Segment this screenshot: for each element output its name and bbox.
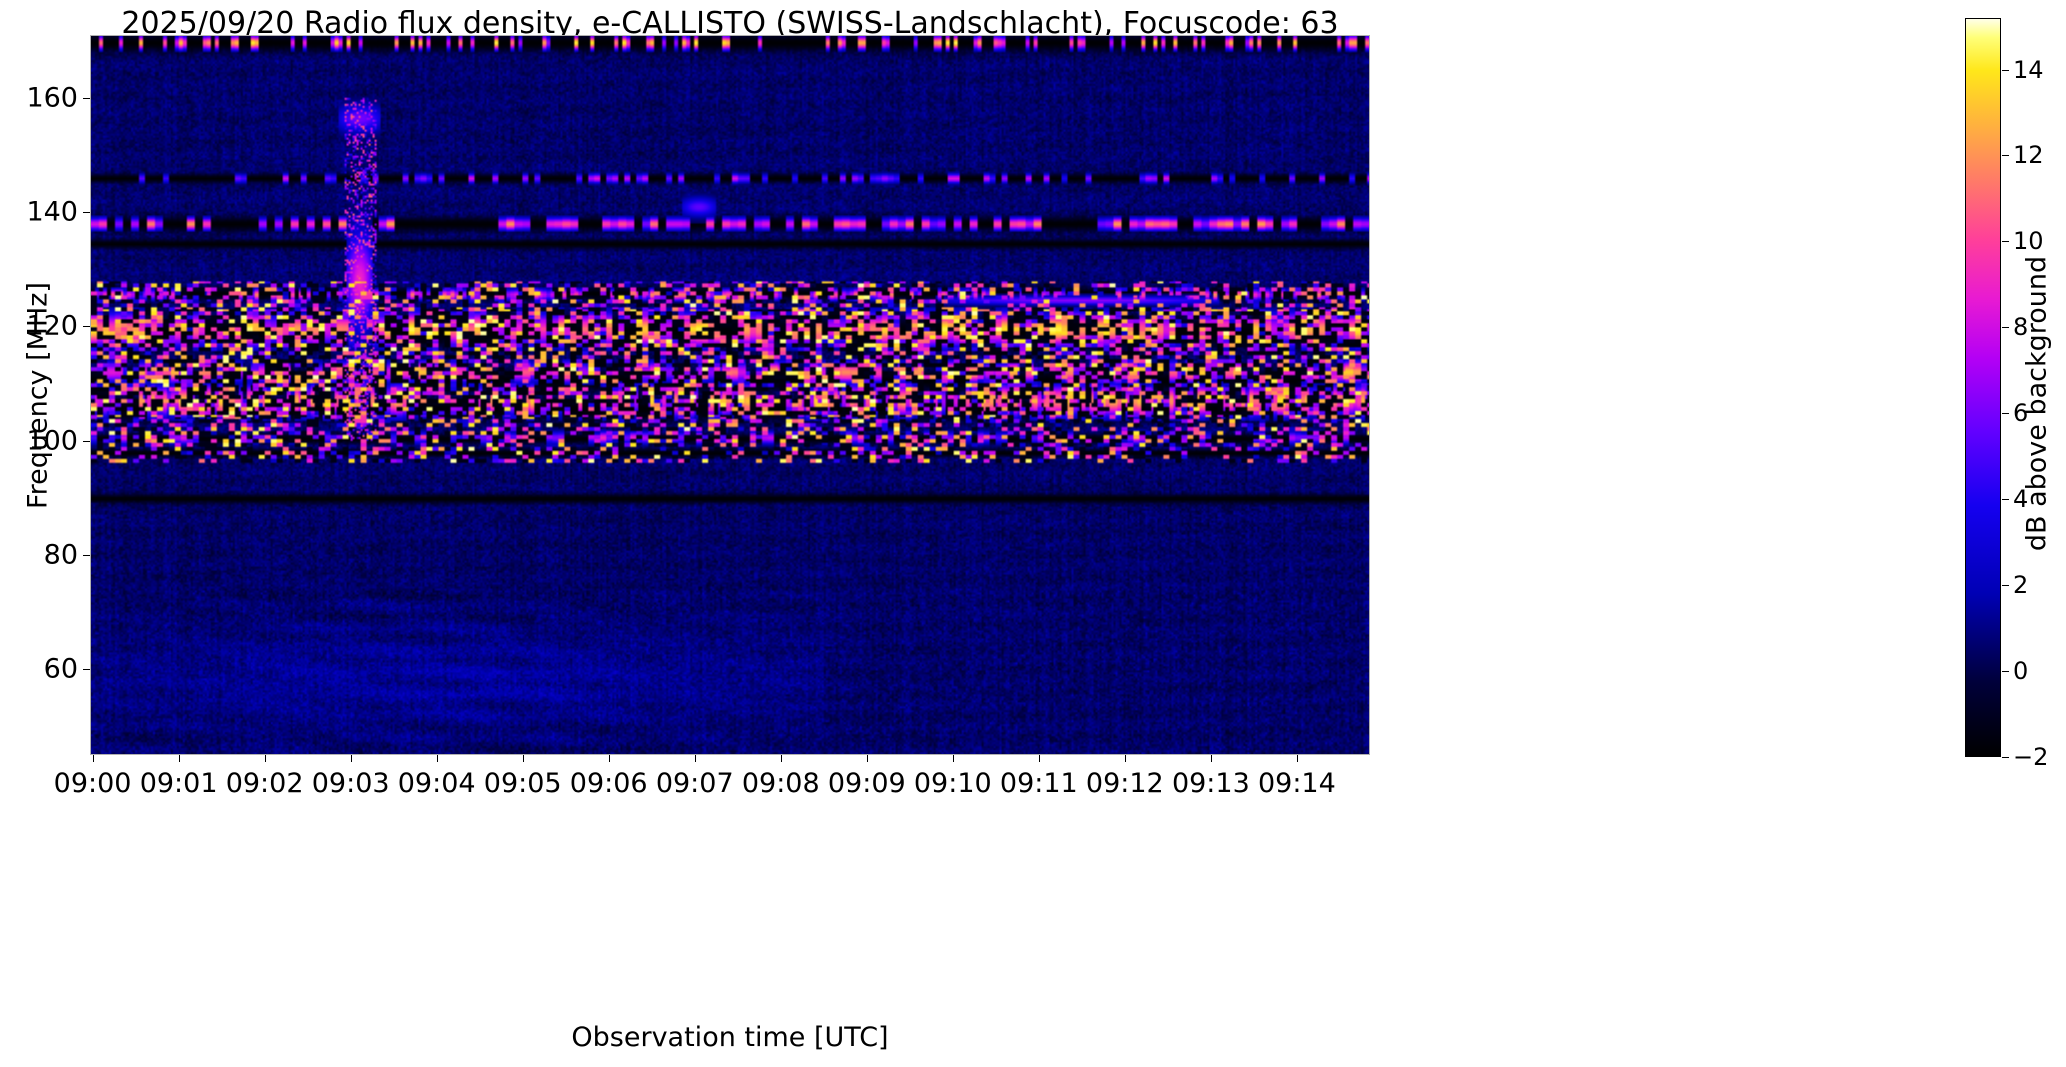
x-tick-mark <box>695 755 696 762</box>
x-tick-mark <box>93 755 94 762</box>
x-tick-label: 09:02 <box>226 768 304 799</box>
x-tick-mark <box>781 755 782 762</box>
x-tick-label: 09:00 <box>54 768 132 799</box>
x-tick-mark <box>1211 755 1212 762</box>
x-tick-label: 09:13 <box>1172 768 1250 799</box>
x-tick-mark <box>523 755 524 762</box>
x-axis-label: Observation time [UTC] <box>90 1022 1370 1053</box>
colorbar-tick-mark <box>2002 155 2009 156</box>
y-tick-mark <box>83 98 90 99</box>
x-tick-label: 09:09 <box>828 768 906 799</box>
colorbar-tick-mark <box>2002 327 2009 328</box>
y-tick-label: 120 <box>26 311 78 342</box>
x-tick-label: 09:06 <box>570 768 648 799</box>
colorbar-tick-mark <box>2002 757 2009 758</box>
colorbar-tick-mark <box>2002 413 2009 414</box>
y-tick-mark <box>83 555 90 556</box>
x-tick-label: 09:08 <box>742 768 820 799</box>
x-tick-label: 09:03 <box>312 768 390 799</box>
colorbar[interactable] <box>1965 18 2001 757</box>
x-tick-mark <box>351 755 352 762</box>
y-tick-label: 60 <box>44 654 78 685</box>
x-tick-mark <box>265 755 266 762</box>
y-tick-label: 160 <box>26 82 78 113</box>
y-tick-label: 140 <box>26 197 78 228</box>
x-tick-mark <box>1297 755 1298 762</box>
x-tick-mark <box>867 755 868 762</box>
colorbar-gradient <box>1966 19 2000 756</box>
y-tick-mark <box>83 441 90 442</box>
x-tick-label: 09:05 <box>484 768 562 799</box>
x-tick-mark <box>179 755 180 762</box>
x-tick-label: 09:01 <box>140 768 218 799</box>
x-tick-label: 09:04 <box>398 768 476 799</box>
y-tick-mark <box>83 669 90 670</box>
x-tick-mark <box>1125 755 1126 762</box>
figure-canvas: 2025/09/20 Radio flux density, e-CALLIST… <box>0 0 2066 1067</box>
y-tick-label: 100 <box>26 425 78 456</box>
x-tick-mark <box>609 755 610 762</box>
y-axis-label: Frequency [MHz] <box>23 36 54 756</box>
x-tick-mark <box>437 755 438 762</box>
y-tick-mark <box>83 212 90 213</box>
colorbar-tick-mark <box>2002 585 2009 586</box>
x-tick-mark <box>1039 755 1040 762</box>
x-tick-label: 09:12 <box>1086 768 1164 799</box>
colorbar-tick-mark <box>2002 499 2009 500</box>
colorbar-tick-mark <box>2002 70 2009 71</box>
x-tick-mark <box>953 755 954 762</box>
colorbar-tick-mark <box>2002 241 2009 242</box>
x-tick-label: 09:10 <box>914 768 992 799</box>
x-tick-label: 09:07 <box>656 768 734 799</box>
colorbar-tick-mark <box>2002 671 2009 672</box>
spectrogram-image <box>91 36 1369 754</box>
y-tick-mark <box>83 326 90 327</box>
spectrogram-plot-area[interactable] <box>90 35 1370 755</box>
colorbar-label: dB above background <box>2022 54 2053 754</box>
x-tick-label: 09:11 <box>1000 768 1078 799</box>
x-tick-label: 09:14 <box>1258 768 1336 799</box>
y-tick-label: 80 <box>44 540 78 571</box>
